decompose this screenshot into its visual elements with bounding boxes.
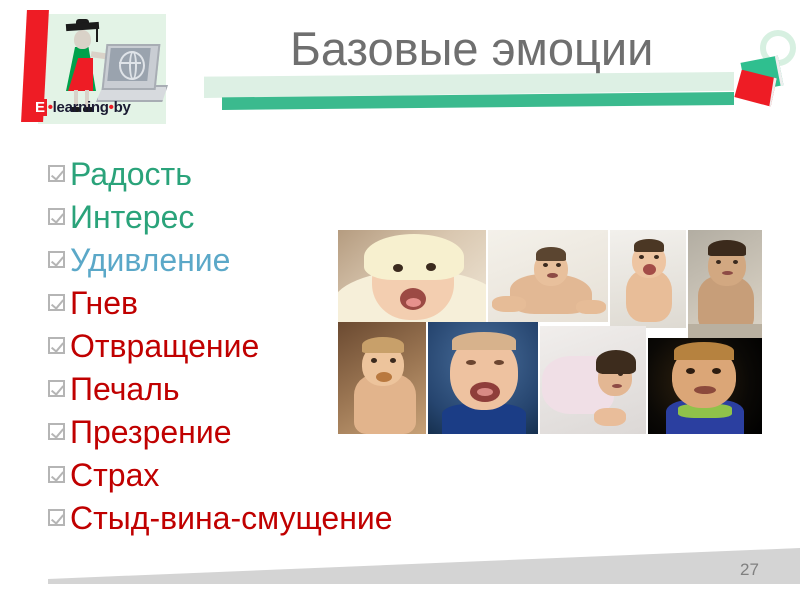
checkbox-checked-icon[interactable] [48,208,65,225]
list-item-label: Удивление [70,242,230,278]
emotions-photo-collage [338,226,762,434]
list-item[interactable]: Радость [48,152,518,195]
elearning-logo[interactable]: E•learning•by [8,6,173,134]
collage-photo [428,322,538,434]
graduation-tassel [96,26,98,42]
collage-photo [648,338,762,434]
checkbox-checked-icon[interactable] [48,423,65,440]
collage-photo [338,322,426,434]
footer-decorative-wedge [48,548,800,584]
checkbox-checked-icon[interactable] [48,165,65,182]
checkbox-checked-icon[interactable] [48,337,65,354]
collage-photo [338,230,486,322]
checkbox-checked-icon[interactable] [48,294,65,311]
list-item[interactable]: Стыд-вина-смущение [48,496,518,539]
collage-photo [610,230,686,328]
list-item-label: Страх [70,457,159,493]
list-item-label: Радость [70,156,192,192]
logo-text-by: by [114,99,131,116]
checkbox-checked-icon[interactable] [48,380,65,397]
list-item-label: Печаль [70,371,180,407]
graduate-head [74,30,91,49]
list-item-label: Стыд-вина-смущение [70,500,393,536]
collage-photo [540,326,646,434]
logo-letter-e: E [33,99,47,116]
collage-photo [688,230,762,348]
logo-text-learning: learning [53,99,109,116]
list-item[interactable]: Страх [48,453,518,496]
page-title: Базовые эмоции [290,20,720,78]
checkbox-checked-icon[interactable] [48,509,65,526]
list-item-label: Интерес [70,199,194,235]
list-item-label: Презрение [70,414,232,450]
logo-wordmark: E•learning•by [33,99,173,121]
globe-icon [119,51,145,80]
list-item-label: Гнев [70,285,138,321]
slide-canvas: E•learning•by Базовые эмоции Радость Инт… [0,0,800,600]
checkbox-checked-icon[interactable] [48,251,65,268]
list-item-label: Отвращение [70,328,259,364]
collage-photo [488,230,608,322]
checkbox-checked-icon[interactable] [48,466,65,483]
page-number: 27 [740,560,780,580]
